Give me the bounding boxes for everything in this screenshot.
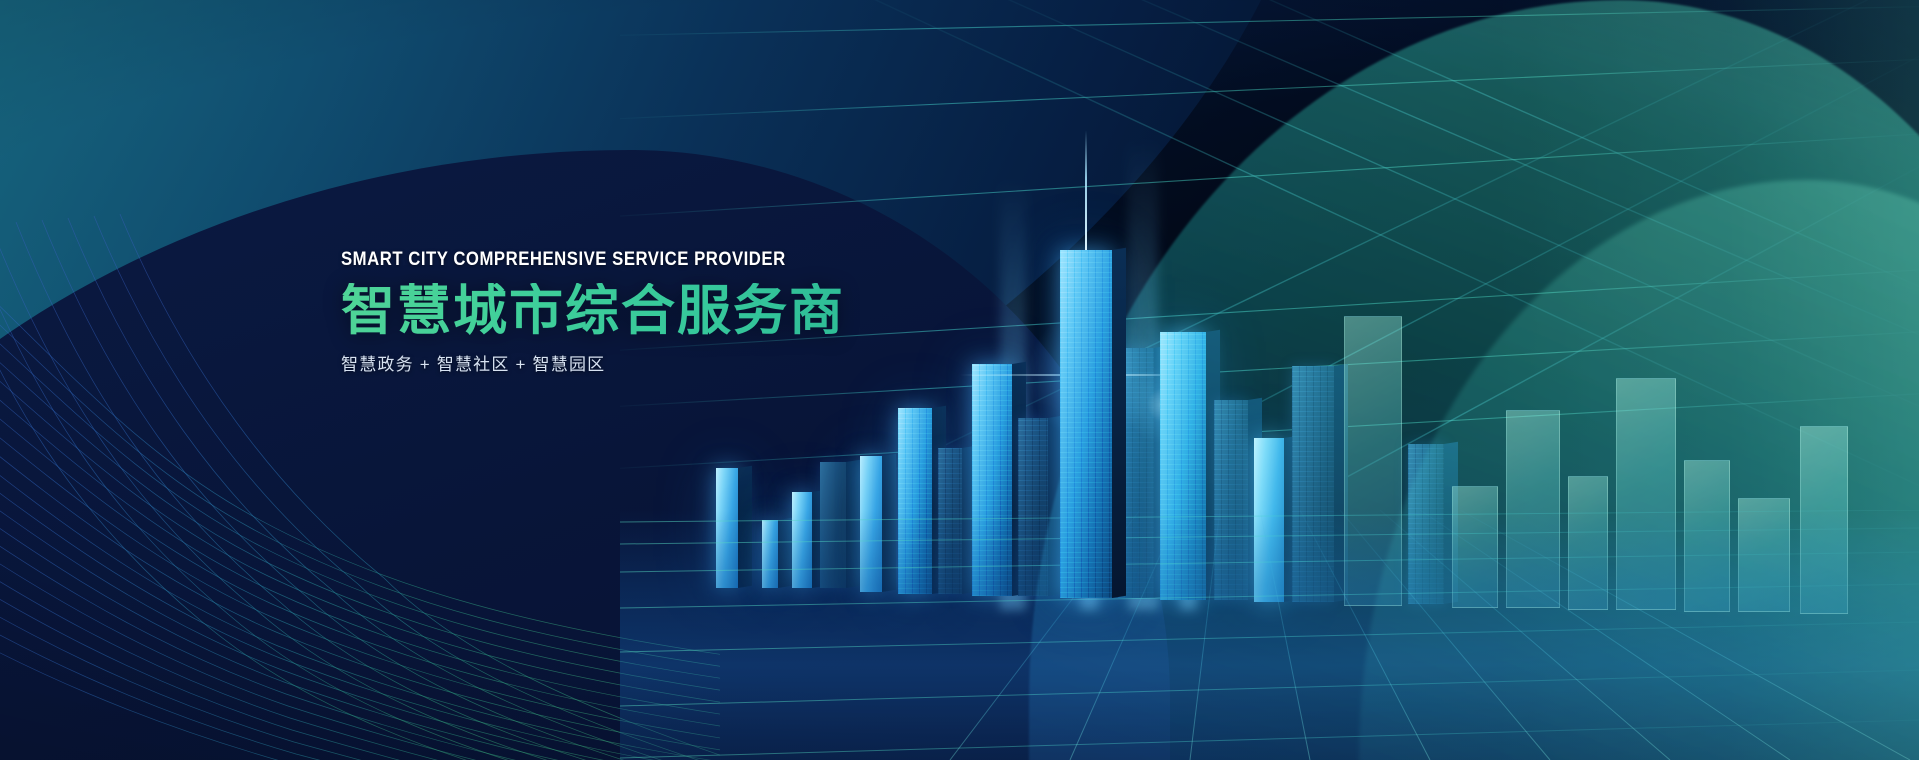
tower-spire bbox=[1085, 130, 1087, 250]
green-edge-glow bbox=[1499, 0, 1919, 760]
hero-banner: SMART CITY COMPREHENSIVE SERVICE PROVIDE… bbox=[0, 0, 1919, 760]
hero-subtitle: 智慧政务 + 智慧社区 + 智慧园区 bbox=[341, 356, 1101, 373]
hero-eyebrow: SMART CITY COMPREHENSIVE SERVICE PROVIDE… bbox=[341, 250, 1010, 269]
hero-headline: 智慧城市综合服务商 bbox=[341, 283, 1101, 340]
hero-copy: SMART CITY COMPREHENSIVE SERVICE PROVIDE… bbox=[341, 250, 1101, 373]
